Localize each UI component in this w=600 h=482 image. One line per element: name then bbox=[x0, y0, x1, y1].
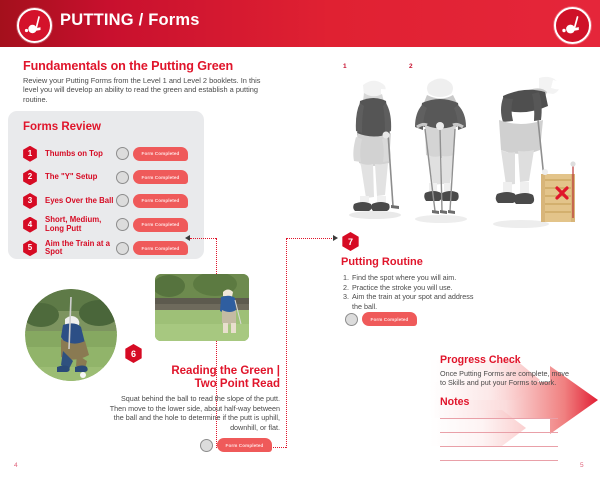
form-label: Short, Medium, Long Putt bbox=[45, 216, 114, 233]
form-completed-label: Form Completed bbox=[142, 151, 180, 156]
intro-block: Fundamentals on the Putting Green Review… bbox=[23, 59, 268, 104]
step-number: 3 bbox=[28, 197, 32, 205]
progress-check-body: Once Putting Forms are complete, move to… bbox=[440, 369, 572, 388]
page-title-main: PUTTING bbox=[60, 11, 134, 29]
list-item[interactable]: 5 Aim the Train at a Spot Form Completed bbox=[22, 236, 198, 260]
connector-line bbox=[286, 238, 287, 448]
golfer-photo-1 bbox=[341, 71, 403, 219]
form-checkbox[interactable] bbox=[345, 313, 358, 326]
putting-forms-page: PUTTING / Forms Fundamentals on the Putt… bbox=[0, 0, 600, 482]
section-title: Reading the Green | Two Point Read bbox=[100, 365, 280, 391]
page-number-right: 5 bbox=[580, 462, 584, 469]
form-checkbox[interactable] bbox=[200, 439, 213, 452]
form-completed-button[interactable]: Form Completed bbox=[133, 147, 188, 161]
notes-line[interactable] bbox=[440, 446, 558, 447]
step-index: 1. bbox=[343, 273, 349, 283]
putter-ball-logo-right-icon bbox=[554, 7, 591, 44]
list-item: 2.Practice the stroke you will use. bbox=[343, 283, 483, 293]
forms-review-title: Forms Review bbox=[23, 121, 101, 133]
form-label: The "Y" Setup bbox=[45, 173, 114, 182]
form-completed-button[interactable]: Form Completed bbox=[133, 241, 188, 255]
golfer-on-green-svg bbox=[155, 274, 249, 341]
golfer-photo-2 bbox=[409, 71, 471, 223]
form-completed-button[interactable]: Form Completed bbox=[133, 170, 188, 184]
form-completed-label: Form Completed bbox=[142, 175, 180, 180]
list-item[interactable]: 1 Thumbs on Top Form Completed bbox=[22, 142, 198, 166]
form-completed-label: Form Completed bbox=[142, 246, 180, 251]
reading-green-completion[interactable]: Form Completed bbox=[198, 438, 272, 452]
notes-title: Notes bbox=[440, 396, 469, 408]
form-checkbox[interactable] bbox=[116, 147, 129, 160]
intro-body: Review your Putting Forms from the Level… bbox=[23, 76, 268, 104]
form-label: Eyes Over the Ball bbox=[45, 197, 114, 206]
step-number: 4 bbox=[28, 221, 32, 229]
page-title-separator: / bbox=[134, 11, 148, 29]
page-title: PUTTING / Forms bbox=[60, 11, 200, 30]
step-index: 2. bbox=[343, 283, 349, 293]
connector-line bbox=[190, 238, 216, 239]
step-index: 3. bbox=[343, 292, 349, 302]
page-number-left: 4 bbox=[14, 462, 18, 469]
photo-label-1: 1 bbox=[343, 63, 347, 70]
page-title-sub: Forms bbox=[148, 11, 199, 29]
form-checkbox[interactable] bbox=[116, 242, 129, 255]
form-completed-label: Form Completed bbox=[142, 198, 180, 203]
list-item: 3.Aim the train at your spot and address… bbox=[343, 292, 483, 311]
progress-check-block: Progress Check Once Putting Forms are co… bbox=[440, 354, 580, 388]
step-number: 2 bbox=[28, 173, 32, 181]
form-completed-label: Form Completed bbox=[371, 317, 409, 322]
step-number-badge: 1 bbox=[22, 146, 38, 162]
list-item[interactable]: 2 The "Y" Setup Form Completed bbox=[22, 166, 198, 190]
step-number: 5 bbox=[28, 244, 32, 252]
notes-line[interactable] bbox=[440, 460, 558, 461]
golfer-photo-3 bbox=[481, 68, 581, 230]
step-number: 7 bbox=[348, 237, 353, 247]
step-number: 1 bbox=[28, 150, 32, 158]
step-number-badge: 3 bbox=[22, 193, 38, 209]
putter-ball-logo-right-svg bbox=[556, 9, 589, 42]
form-label: Aim the Train at a Spot bbox=[45, 240, 114, 257]
step-number-badge: 2 bbox=[22, 169, 38, 185]
step-number-badge: 5 bbox=[22, 240, 38, 256]
intro-title: Fundamentals on the Putting Green bbox=[23, 59, 268, 73]
step-text: Practice the stroke you will use. bbox=[352, 283, 453, 292]
form-completed-label: Form Completed bbox=[226, 443, 264, 448]
forms-review-list: 1 Thumbs on Top Form Completed 2 The "Y"… bbox=[22, 142, 198, 260]
notes-line[interactable] bbox=[440, 418, 558, 419]
form-completed-label: Form Completed bbox=[142, 222, 180, 227]
notes-line[interactable] bbox=[440, 432, 558, 433]
list-item[interactable]: 4 Short, Medium, Long Putt Form Complete… bbox=[22, 213, 198, 237]
connector-arrow-right-icon bbox=[333, 235, 338, 241]
step-text: Find the spot where you will aim. bbox=[352, 273, 456, 282]
section-title-line2: Two Point Read bbox=[195, 378, 280, 390]
step-number-badge: 6 bbox=[124, 344, 143, 363]
putter-ball-logo-svg bbox=[19, 10, 50, 41]
connector-line bbox=[286, 238, 334, 239]
form-label: Thumbs on Top bbox=[45, 150, 114, 159]
step-number: 6 bbox=[131, 349, 136, 359]
connector-arrow-left-icon bbox=[185, 235, 190, 241]
progress-check-title: Progress Check bbox=[440, 354, 580, 366]
form-completed-button[interactable]: Form Completed bbox=[133, 218, 188, 232]
putting-routine-completion[interactable]: Form Completed bbox=[343, 312, 417, 326]
step-number-badge: 4 bbox=[22, 217, 38, 233]
section-title-line1: Reading the Green | bbox=[171, 365, 280, 377]
form-checkbox[interactable] bbox=[116, 171, 129, 184]
putting-routine-steps: 1.Find the spot where you will aim. 2.Pr… bbox=[343, 273, 483, 311]
list-item: 1.Find the spot where you will aim. bbox=[343, 273, 483, 283]
putter-ball-logo-icon bbox=[17, 8, 52, 43]
photo-label-2: 2 bbox=[409, 63, 413, 70]
form-completed-button[interactable]: Form Completed bbox=[133, 194, 188, 208]
form-completed-button[interactable]: Form Completed bbox=[362, 312, 417, 326]
golfer-on-green-photo bbox=[155, 274, 249, 341]
step-text: Aim the train at your spot and address t… bbox=[352, 292, 473, 311]
list-item[interactable]: 3 Eyes Over the Ball Form Completed bbox=[22, 189, 198, 213]
forms-review-panel: Forms Review 1 Thumbs on Top Form Comple… bbox=[8, 111, 204, 259]
form-completed-button[interactable]: Form Completed bbox=[217, 438, 272, 452]
form-checkbox[interactable] bbox=[116, 218, 129, 231]
section-body: Squat behind the ball to read the slope … bbox=[105, 394, 280, 432]
page-header: PUTTING / Forms bbox=[0, 0, 600, 47]
golfer-photo-strip: 1 2 bbox=[333, 58, 591, 240]
section-title: Putting Routine bbox=[341, 256, 423, 268]
form-checkbox[interactable] bbox=[116, 194, 129, 207]
